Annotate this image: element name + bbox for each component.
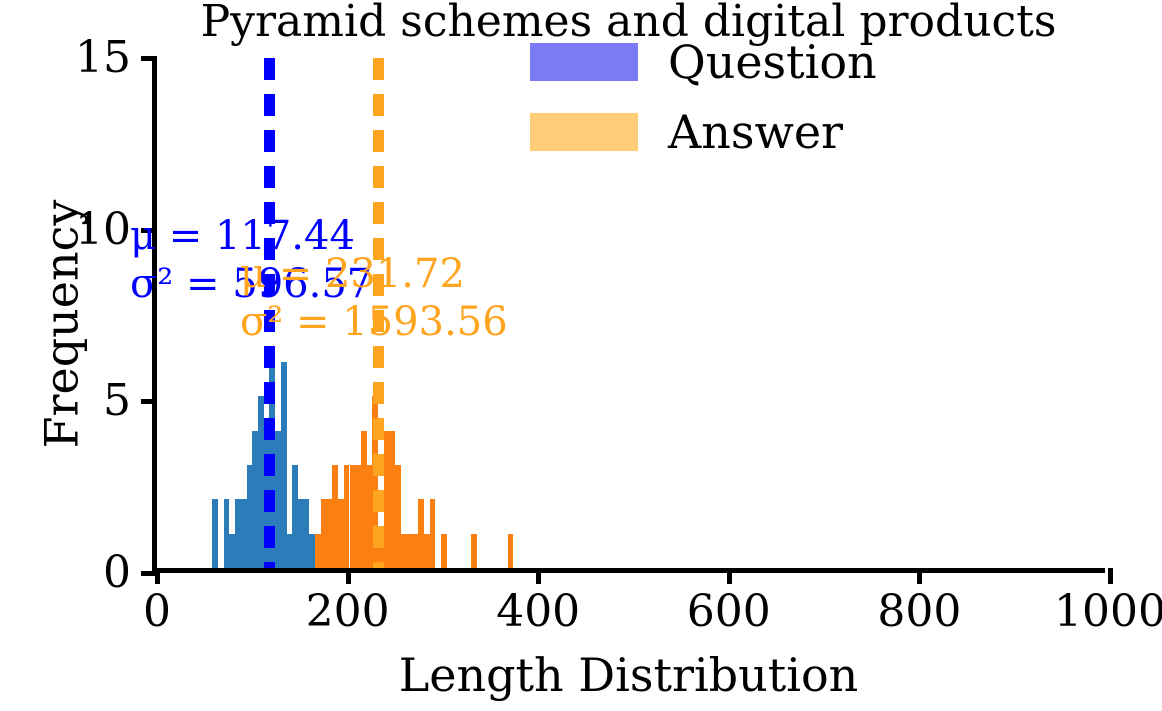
y-tick-label: 0 — [103, 549, 131, 597]
x-tick-mark — [727, 568, 732, 584]
x-tick-label: 0 — [143, 588, 171, 636]
y-tick-mark — [141, 399, 157, 404]
histogram-bar — [441, 534, 447, 568]
legend-swatch-question — [530, 43, 638, 81]
x-tick-label: 400 — [496, 588, 580, 636]
answer-mean-label: μ = 231.72 — [240, 250, 508, 298]
histogram-bar — [430, 499, 436, 568]
stats-annotation-answer: μ = 231.72 σ² = 1593.56 — [240, 250, 508, 346]
x-axis-label: Length Distribution — [152, 648, 1105, 702]
histogram-figure: Pyramid schemes and digital products 020… — [0, 0, 1162, 711]
histogram-bar — [471, 534, 477, 568]
x-tick-label: 200 — [306, 588, 390, 636]
x-tick-mark — [536, 568, 541, 584]
legend-item-answer: Answer — [530, 108, 877, 156]
y-axis-label: Frequency — [37, 67, 87, 582]
x-tick-label: 800 — [877, 588, 961, 636]
answer-variance-label: σ² = 1593.56 — [240, 298, 508, 346]
y-tick-label: 5 — [103, 377, 131, 425]
legend-label-question: Question — [668, 38, 877, 86]
legend-item-question: Question — [530, 38, 877, 86]
x-tick-mark — [346, 568, 351, 584]
histogram-bar — [212, 499, 218, 568]
legend-label-answer: Answer — [668, 108, 843, 156]
legend: Question Answer — [530, 38, 877, 156]
legend-swatch-answer — [530, 113, 638, 151]
y-tick-mark — [141, 56, 157, 61]
y-tick-mark — [141, 571, 157, 576]
x-tick-mark — [917, 568, 922, 584]
x-tick-mark — [1108, 568, 1113, 584]
x-tick-label: 600 — [687, 588, 771, 636]
histogram-bar — [508, 534, 514, 568]
x-tick-label: 1000 — [1054, 588, 1162, 636]
